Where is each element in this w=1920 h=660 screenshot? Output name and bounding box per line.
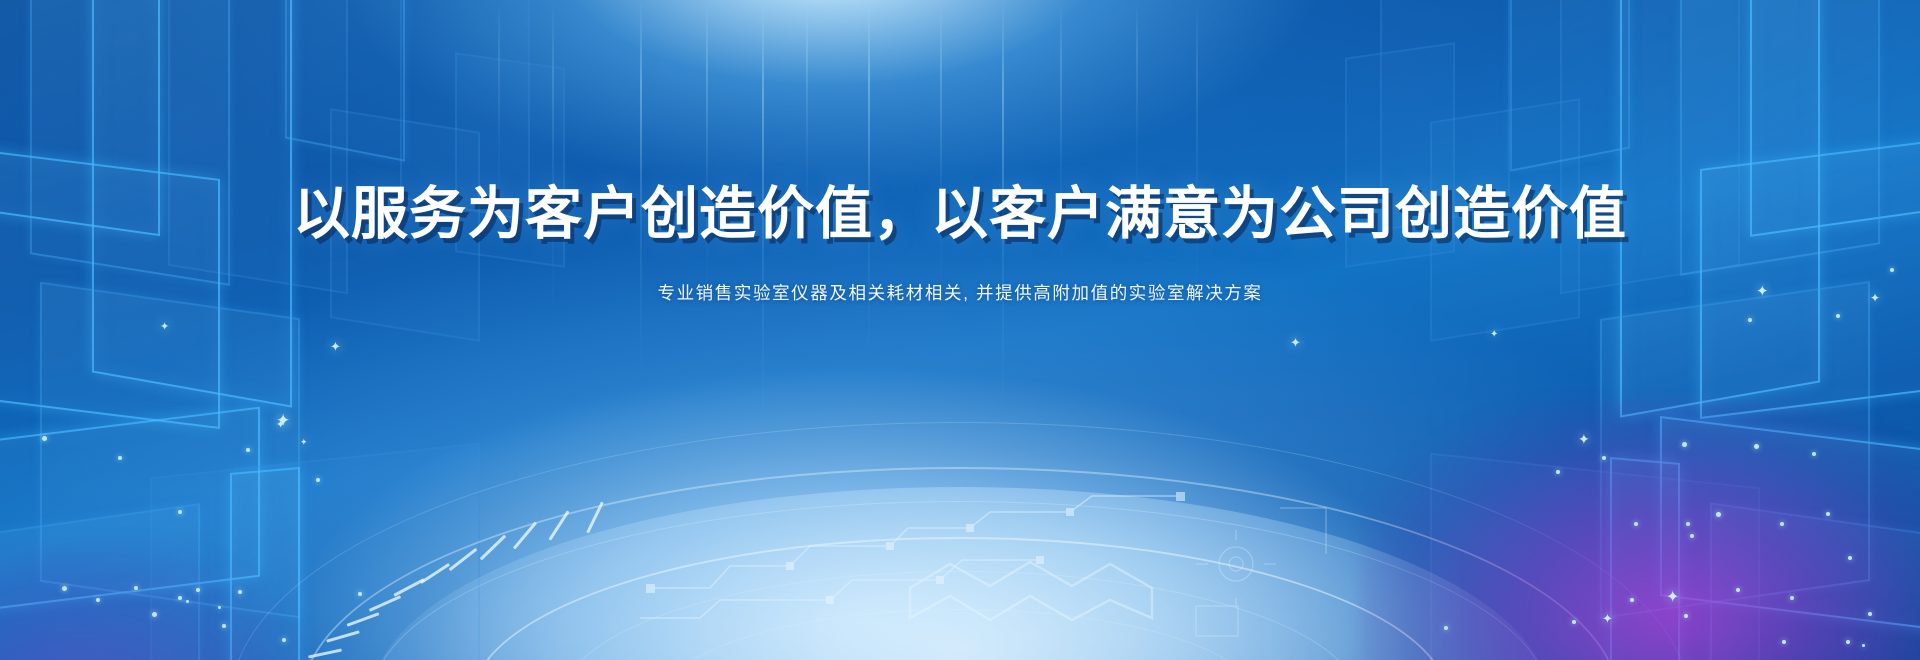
page-subtitle: 专业销售实验室仪器及相关耗材相关, 并提供高附加值的实验室解决方案 (0, 280, 1920, 305)
hero-banner: ✦ ✦ ✦ ✦ ✦ ✦ ✦ ✦ ✦ ✦ ✦ ✦ 以服务为客户创造价值，以客户满意… (0, 0, 1920, 660)
particle-field: ✦ ✦ ✦ ✦ ✦ ✦ ✦ ✦ ✦ ✦ ✦ ✦ (0, 0, 1920, 660)
banner-copy: 以服务为客户创造价值，以客户满意为公司创造价值 专业销售实验室仪器及相关耗材相关… (0, 168, 1920, 305)
page-title: 以服务为客户创造价值，以客户满意为公司创造价值 (0, 168, 1920, 250)
